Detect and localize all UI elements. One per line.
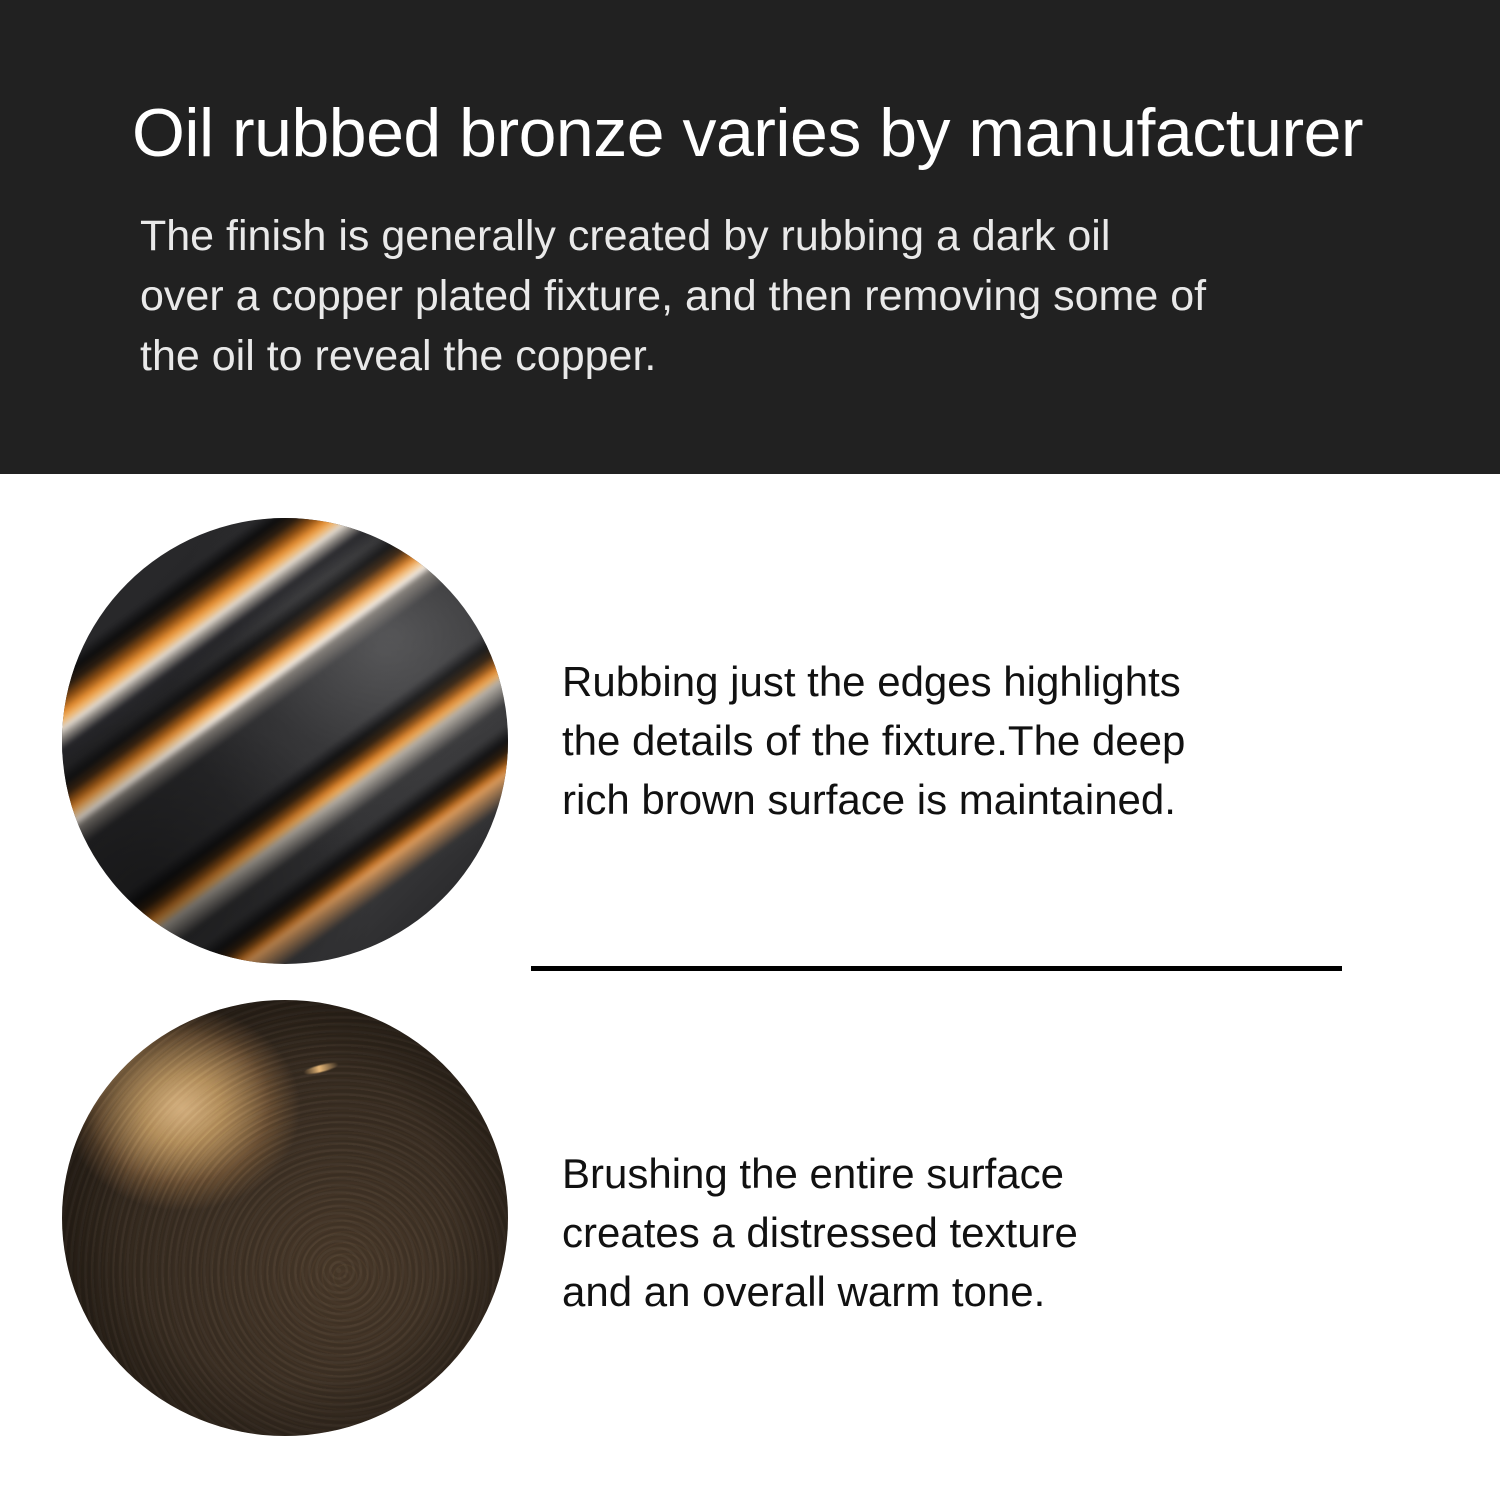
page-title: Oil rubbed bronze varies by manufacturer xyxy=(132,98,1392,169)
polished-caption-line-3: rich brown surface is maintained. xyxy=(562,770,1185,829)
header-subtitle: The finish is generally created by rubbi… xyxy=(140,206,1320,386)
brushed-caption-line-2: creates a distressed texture xyxy=(562,1203,1078,1262)
polished-swatch-caption: Rubbing just the edges highlights the de… xyxy=(562,652,1185,829)
brushed-caption-line-1: Brushing the entire surface xyxy=(562,1144,1078,1203)
brushed-caption-line-3: and an overall warm tone. xyxy=(562,1262,1078,1321)
polished-caption-line-1: Rubbing just the edges highlights xyxy=(562,652,1185,711)
header-subtitle-line-1: The finish is generally created by rubbi… xyxy=(140,206,1320,266)
header-subtitle-line-2: over a copper plated fixture, and then r… xyxy=(140,266,1320,326)
body-area: Rubbing just the edges highlights the de… xyxy=(0,474,1500,1500)
header-subtitle-line-3: the oil to reveal the copper. xyxy=(140,326,1320,386)
polished-oil-rubbed-bronze-swatch xyxy=(62,518,508,964)
brushed-swatch-caption: Brushing the entire surface creates a di… xyxy=(562,1144,1078,1321)
section-divider xyxy=(531,966,1342,971)
header-band: Oil rubbed bronze varies by manufacturer… xyxy=(0,0,1500,474)
brushed-oil-rubbed-bronze-swatch xyxy=(62,1000,508,1436)
polished-caption-line-2: the details of the fixture.The deep xyxy=(562,711,1185,770)
brush-texture-rings-fine xyxy=(62,1000,508,1436)
infographic-root: Oil rubbed bronze varies by manufacturer… xyxy=(0,0,1500,1500)
